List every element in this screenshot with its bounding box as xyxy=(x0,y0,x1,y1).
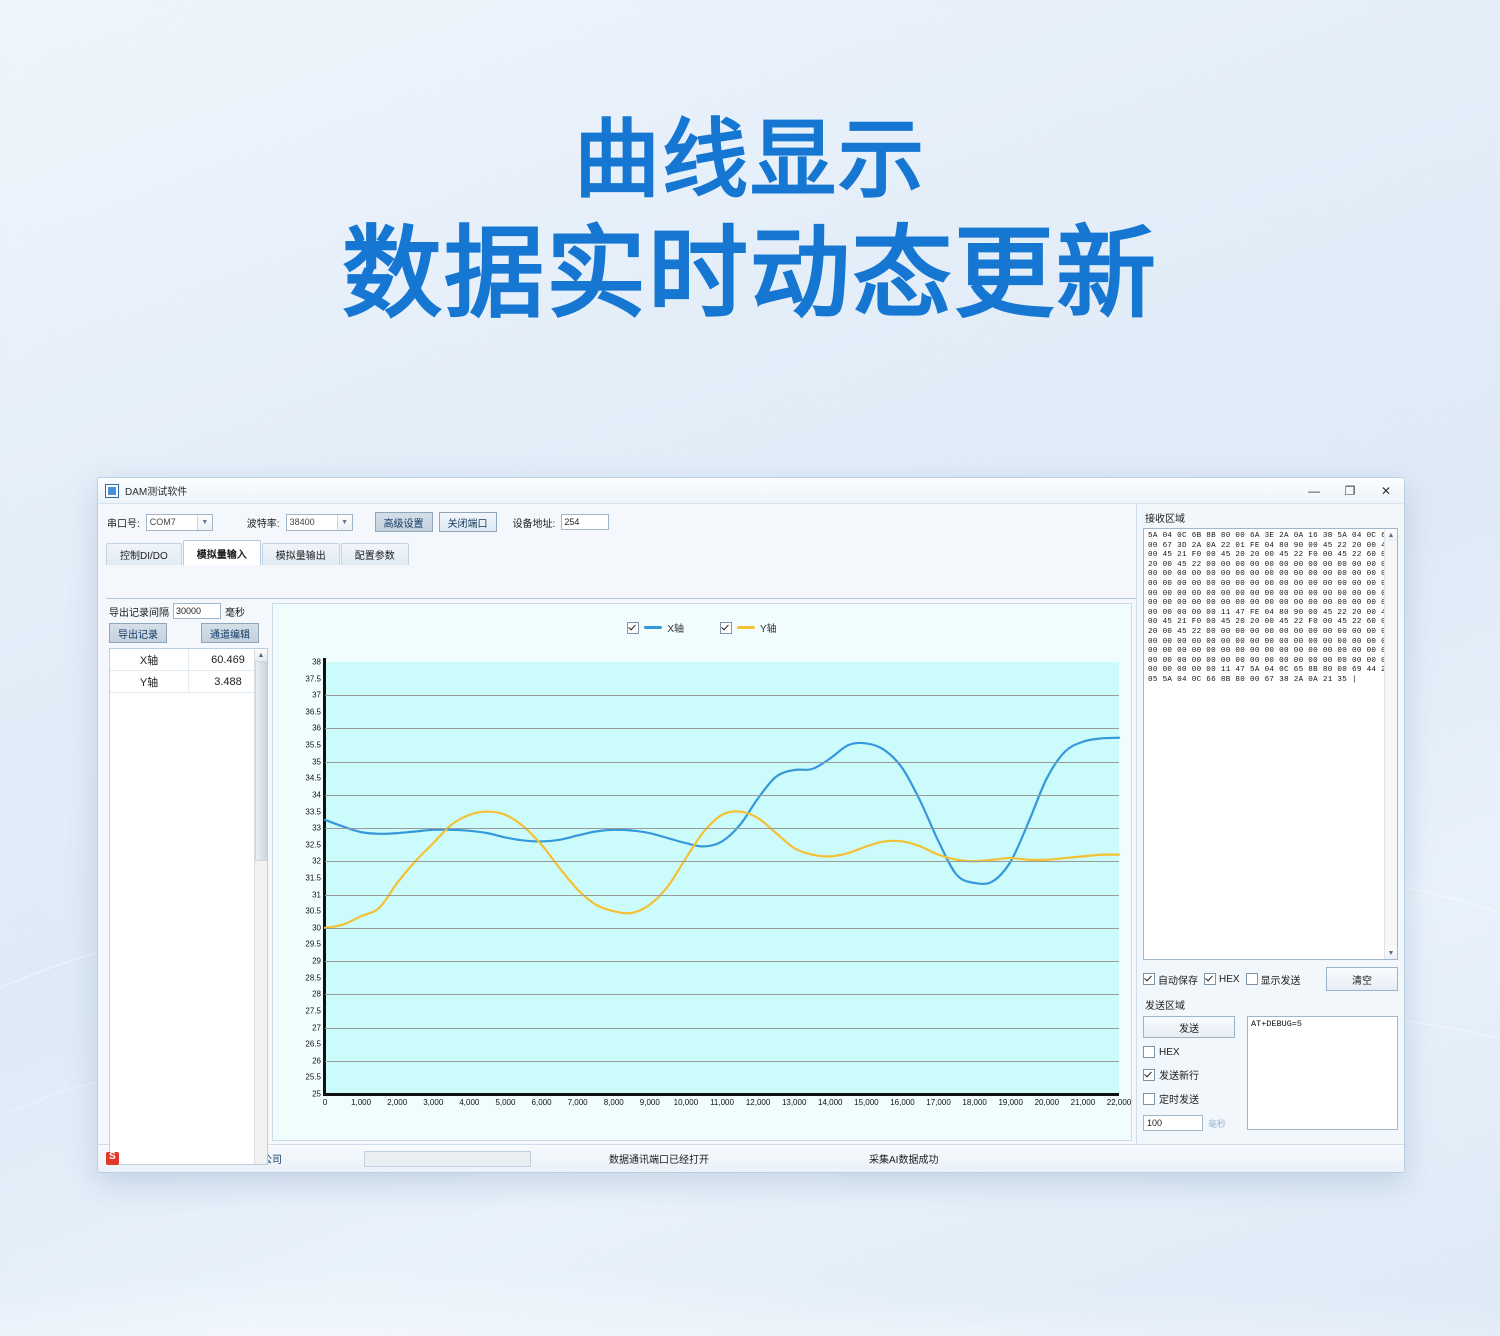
x-axis-tick-label: 11,000 xyxy=(710,1098,734,1107)
x-axis-tick-label: 17,000 xyxy=(926,1098,950,1107)
receive-scrollbar[interactable]: ▲ ▼ xyxy=(1384,529,1397,959)
tab-control-di-do[interactable]: 控制DI/DO xyxy=(106,543,182,565)
window-body: 串口号: COM7 ▼ 波特率: 38400 ▼ 高级设置 关闭端口 设备地址:… xyxy=(98,504,1404,1144)
legend-swatch-y xyxy=(737,626,755,629)
y-axis-tick-label: 34 xyxy=(312,790,321,799)
timed-send-label: 定时发送 xyxy=(1159,1091,1199,1106)
auto-save-checkbox[interactable] xyxy=(1143,973,1155,985)
y-axis-tick-label: 28.5 xyxy=(305,973,321,982)
receive-content: 5A 04 0C 6B 8B 80 00 6A 3E 2A 0A 16 38 5… xyxy=(1144,529,1397,689)
y-axis-tick-label: 32.5 xyxy=(305,840,321,849)
page-headline: 曲线显示 数据实时动态更新 xyxy=(0,108,1500,335)
window-controls: — ❐ ✕ xyxy=(1296,478,1404,503)
x-axis-tick-label: 18,000 xyxy=(962,1098,986,1107)
option-auto-save[interactable]: 自动保存 xyxy=(1143,972,1198,987)
y-axis-tick-label: 37 xyxy=(312,691,321,700)
title-bar: DAM测试软件 — ❐ ✕ xyxy=(98,478,1404,504)
show-send-checkbox[interactable] xyxy=(1246,973,1258,985)
x-axis-tick-label: 5,000 xyxy=(495,1098,515,1107)
tab-analog-output[interactable]: 模拟量输出 xyxy=(262,543,340,565)
x-axis-tick-label: 21,000 xyxy=(1071,1098,1095,1107)
tab-content-analog-input: 导出记录间隔 30000 毫秒 导出记录 通道编辑 X轴 60.469 xyxy=(106,598,1136,1144)
y-axis-tick-label: 25 xyxy=(312,1090,321,1099)
legend-checkbox-x[interactable] xyxy=(627,622,639,634)
grid-line xyxy=(325,1061,1119,1062)
option-recv-hex[interactable]: HEX xyxy=(1204,973,1240,985)
close-port-button[interactable]: 关闭端口 xyxy=(439,512,497,532)
x-axis-tick-label: 6,000 xyxy=(532,1098,552,1107)
y-axis-tick-label: 35 xyxy=(312,757,321,766)
table-row[interactable]: Y轴 3.488 xyxy=(110,671,267,693)
grid-line xyxy=(325,994,1119,995)
scroll-up-icon[interactable]: ▲ xyxy=(1385,529,1397,541)
panel-buttons: 导出记录 通道编辑 xyxy=(109,623,268,643)
y-axis-tick-label: 35.5 xyxy=(305,741,321,750)
auto-save-label: 自动保存 xyxy=(1158,972,1198,987)
x-axis-tick-label: 20,000 xyxy=(1035,1098,1059,1107)
grid-line xyxy=(325,762,1119,763)
progress-bar xyxy=(364,1151,531,1167)
export-interval-label: 导出记录间隔 xyxy=(109,604,169,619)
send-hex-checkbox[interactable] xyxy=(1143,1046,1155,1058)
recv-hex-checkbox[interactable] xyxy=(1204,973,1216,985)
headline-line-2: 数据实时动态更新 xyxy=(0,213,1500,335)
y-axis-tick-label: 38 xyxy=(312,658,321,667)
export-record-button[interactable]: 导出记录 xyxy=(109,623,167,643)
x-axis-tick-label: 16,000 xyxy=(890,1098,914,1107)
grid-line xyxy=(325,695,1119,696)
x-axis-tick-label: 15,000 xyxy=(854,1098,878,1107)
status-bar: JUYING ELECTRONIC 北京聚英翊创电子有限公司 数据通讯端口已经打… xyxy=(98,1144,1404,1172)
send-hex-label: HEX xyxy=(1159,1047,1180,1058)
tab-analog-input[interactable]: 模拟量输入 xyxy=(183,540,261,565)
y-axis-tick-label: 29.5 xyxy=(305,940,321,949)
legend-label-y: Y轴 xyxy=(760,620,777,635)
chart-column: X轴 Y轴 2 xyxy=(268,599,1136,1144)
grid-line xyxy=(325,928,1119,929)
legend-swatch-x xyxy=(644,626,662,629)
advanced-settings-button[interactable]: 高级设置 xyxy=(375,512,433,532)
legend-label-x: X轴 xyxy=(667,620,684,635)
channel-value-table: X轴 60.469 Y轴 3.488 ▲ xyxy=(109,648,268,1165)
headline-line-1: 曲线显示 xyxy=(0,108,1500,213)
device-address-input[interactable]: 254 xyxy=(561,514,609,530)
channel-name: X轴 xyxy=(110,649,189,671)
port-label: 串口号: xyxy=(107,515,140,530)
send-interval-row: 100 毫秒 xyxy=(1143,1115,1241,1131)
logo-mark-icon xyxy=(106,1152,119,1165)
grid-line xyxy=(325,961,1119,962)
chevron-down-icon: ▼ xyxy=(337,515,352,530)
y-axis-tick-label: 36.5 xyxy=(305,707,321,716)
timed-send-checkbox[interactable] xyxy=(1143,1093,1155,1105)
y-axis-tick-label: 30 xyxy=(312,923,321,932)
x-axis-tick-label: 9,000 xyxy=(640,1098,660,1107)
window-title: DAM测试软件 xyxy=(125,483,187,498)
recv-hex-label: HEX xyxy=(1219,974,1240,985)
port-value: COM7 xyxy=(150,517,197,527)
send-button[interactable]: 发送 xyxy=(1143,1016,1235,1038)
legend-checkbox-y[interactable] xyxy=(720,622,732,634)
x-axis-tick-label: 22,000 xyxy=(1107,1098,1131,1107)
scrollbar-thumb[interactable] xyxy=(255,661,267,861)
y-axis-tick-label: 26.5 xyxy=(305,1040,321,1049)
device-address-label: 设备地址: xyxy=(513,515,556,530)
app-window: DAM测试软件 — ❐ ✕ 串口号: COM7 ▼ 波特率: 38400 ▼ xyxy=(97,477,1405,1173)
send-interval-unit: 毫秒 xyxy=(1208,1117,1226,1130)
channel-edit-button[interactable]: 通道编辑 xyxy=(201,623,259,643)
x-axis-tick-label: 19,000 xyxy=(998,1098,1022,1107)
y-axis-tick-label: 33.5 xyxy=(305,807,321,816)
legend-item-y[interactable]: Y轴 xyxy=(720,620,777,635)
send-controls: 发送 HEX 发送新行 定时发送 100 毫秒 xyxy=(1143,1016,1241,1131)
scroll-down-icon[interactable]: ▼ xyxy=(1385,947,1397,959)
x-axis-tick-label: 12,000 xyxy=(746,1098,770,1107)
baud-value: 38400 xyxy=(290,517,337,527)
table-scrollbar[interactable]: ▲ xyxy=(254,649,267,1164)
receive-textarea[interactable]: 5A 04 0C 6B 8B 80 00 6A 3E 2A 0A 16 38 5… xyxy=(1143,528,1398,960)
chart-legend: X轴 Y轴 xyxy=(273,620,1131,635)
receive-options: 自动保存 HEX 显示发送 清空 xyxy=(1143,967,1398,991)
y-axis-tick-label: 31.5 xyxy=(305,874,321,883)
x-axis-tick-label: 4,000 xyxy=(459,1098,479,1107)
grid-line xyxy=(325,795,1119,796)
export-interval-unit: 毫秒 xyxy=(225,604,245,619)
y-axis-tick-label: 33 xyxy=(312,824,321,833)
y-axis-tick-label: 29 xyxy=(312,957,321,966)
tab-bar: 控制DI/DO 模拟量输入 模拟量输出 配置参数 xyxy=(106,541,1136,565)
send-area-label: 发送区域 xyxy=(1145,997,1398,1012)
tab-config-params[interactable]: 配置参数 xyxy=(341,543,409,565)
table-row[interactable]: X轴 60.469 xyxy=(110,649,267,671)
status-message-ai: 采集AI数据成功 xyxy=(869,1151,938,1166)
chart-plot-area: 2525.52626.52727.52828.52929.53030.53131… xyxy=(325,662,1119,1094)
baud-select[interactable]: 38400 ▼ xyxy=(286,514,353,531)
x-axis-tick-label: 2,000 xyxy=(387,1098,407,1107)
grid-line xyxy=(325,728,1119,729)
grid-line xyxy=(325,1028,1119,1029)
send-newline-checkbox[interactable] xyxy=(1143,1069,1155,1081)
y-axis-tick-label: 32 xyxy=(312,857,321,866)
x-axis-tick-label: 13,000 xyxy=(782,1098,806,1107)
option-show-send[interactable]: 显示发送 xyxy=(1246,972,1301,987)
option-send-newline[interactable]: 发送新行 xyxy=(1143,1067,1241,1082)
maximize-icon[interactable]: ❐ xyxy=(1332,478,1368,503)
y-axis-tick-label: 34.5 xyxy=(305,774,321,783)
send-interval-input[interactable]: 100 xyxy=(1143,1115,1203,1131)
send-section: 发送 HEX 发送新行 定时发送 100 毫秒 xyxy=(1143,1016,1398,1131)
port-select[interactable]: COM7 ▼ xyxy=(146,514,213,531)
chart-frame: X轴 Y轴 2 xyxy=(272,603,1132,1141)
chart-curves xyxy=(325,662,1119,1094)
receive-area-label: 接收区域 xyxy=(1145,510,1398,525)
y-axis-tick-label: 31 xyxy=(312,890,321,899)
y-axis-tick-label: 27.5 xyxy=(305,1006,321,1015)
x-axis-tick-label: 8,000 xyxy=(604,1098,624,1107)
y-axis-tick-label: 26 xyxy=(312,1056,321,1065)
channel-name: Y轴 xyxy=(110,671,189,693)
chevron-down-icon: ▼ xyxy=(197,515,212,530)
x-axis-tick-label: 14,000 xyxy=(818,1098,842,1107)
send-newline-label: 发送新行 xyxy=(1159,1067,1199,1082)
clear-button[interactable]: 清空 xyxy=(1326,967,1398,991)
x-axis-tick-label: 1,000 xyxy=(351,1098,371,1107)
channel-panel: 导出记录间隔 30000 毫秒 导出记录 通道编辑 X轴 60.469 xyxy=(106,599,268,1144)
connection-toolbar: 串口号: COM7 ▼ 波特率: 38400 ▼ 高级设置 关闭端口 设备地址:… xyxy=(98,504,1136,536)
app-icon xyxy=(105,484,119,498)
left-pane: 串口号: COM7 ▼ 波特率: 38400 ▼ 高级设置 关闭端口 设备地址:… xyxy=(98,504,1137,1144)
x-axis-tick-label: 10,000 xyxy=(674,1098,698,1107)
option-send-hex[interactable]: HEX xyxy=(1143,1046,1241,1058)
close-icon[interactable]: ✕ xyxy=(1368,478,1404,503)
export-interval-input[interactable]: 30000 xyxy=(173,603,221,619)
y-axis-tick-label: 37.5 xyxy=(305,674,321,683)
grid-line xyxy=(325,828,1119,829)
right-pane: 接收区域 5A 04 0C 6B 8B 80 00 6A 3E 2A 0A 16… xyxy=(1137,504,1404,1144)
x-axis-tick-label: 3,000 xyxy=(423,1098,443,1107)
x-axis-tick-label: 7,000 xyxy=(568,1098,588,1107)
y-axis-tick-label: 27 xyxy=(312,1023,321,1032)
grid-line xyxy=(325,861,1119,862)
show-send-label: 显示发送 xyxy=(1261,972,1301,987)
legend-item-x[interactable]: X轴 xyxy=(627,620,684,635)
y-axis-tick-label: 28 xyxy=(312,990,321,999)
baud-label: 波特率: xyxy=(247,515,280,530)
send-textarea[interactable]: AT+DEBUG=5 xyxy=(1247,1016,1398,1130)
option-timed-send[interactable]: 定时发送 xyxy=(1143,1091,1241,1106)
grid-line xyxy=(325,895,1119,896)
status-message-port: 数据通讯端口已经打开 xyxy=(609,1151,709,1166)
y-axis-tick-label: 30.5 xyxy=(305,907,321,916)
export-interval-row: 导出记录间隔 30000 毫秒 xyxy=(109,603,268,619)
x-axis-tick-label: 0 xyxy=(323,1098,327,1107)
y-axis-tick-label: 25.5 xyxy=(305,1073,321,1082)
minimize-icon[interactable]: — xyxy=(1296,478,1332,503)
y-axis-tick-label: 36 xyxy=(312,724,321,733)
